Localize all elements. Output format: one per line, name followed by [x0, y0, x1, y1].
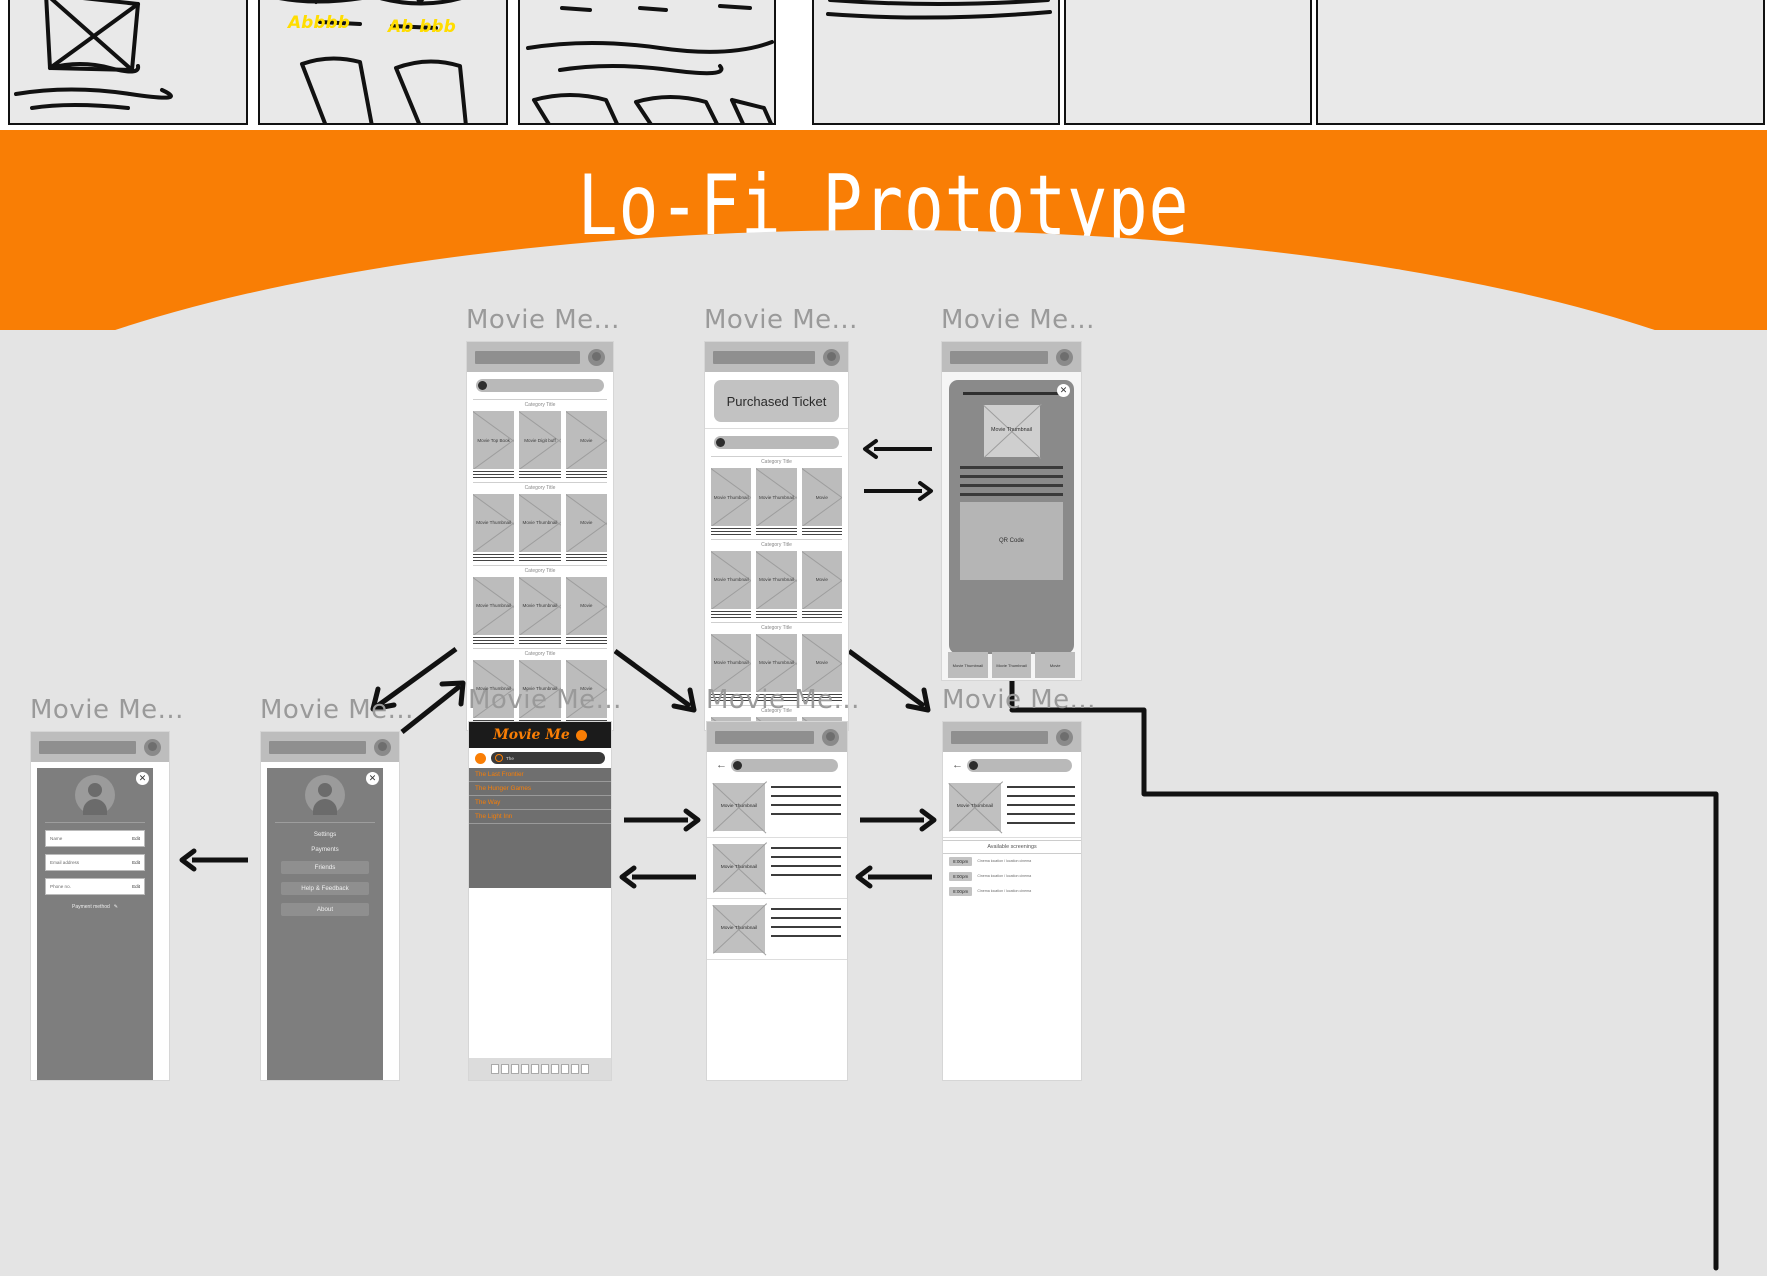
- movie-thumbnail: Movie Thumbnail: [519, 494, 560, 552]
- search-input[interactable]: The: [491, 752, 605, 764]
- gear-icon[interactable]: [475, 753, 486, 764]
- close-icon[interactable]: ✕: [1057, 384, 1070, 397]
- payment-method-label: Payment method: [72, 904, 110, 910]
- app-logo: Movie Me: [469, 722, 611, 748]
- movie-card[interactable]: Movie: [566, 577, 607, 646]
- settings-menu-screen[interactable]: Movie Me... ✕ Settings Payments Friends …: [260, 695, 400, 1081]
- modal-title-bar: [963, 392, 1060, 395]
- app-logo-text: Movie Me: [493, 727, 569, 743]
- logo-bar: [475, 351, 580, 364]
- search-result-item[interactable]: The Way: [469, 796, 611, 810]
- search-input[interactable]: [476, 379, 604, 392]
- category-row: Movie Thumbnail Movie Thumbnail Movie: [705, 468, 848, 537]
- sketch-panel-2: AbbbbAb bbb: [258, 0, 508, 125]
- caption-lines: [711, 528, 751, 535]
- movie-thumbnail: Movie Thumbnail: [713, 783, 765, 831]
- menu-item-help-feedback[interactable]: Help & Feedback: [281, 882, 369, 895]
- category-row: Movie Thumbnail Movie Thumbnail Movie: [705, 551, 848, 620]
- tickets-screen-title: Movie Me...: [704, 305, 849, 335]
- back-arrow-icon[interactable]: ←: [716, 760, 727, 771]
- category-label: Category Title: [473, 565, 607, 574]
- search-query: The: [506, 756, 514, 761]
- search-result-item[interactable]: The Last Frontier: [469, 768, 611, 782]
- search-bar-row[interactable]: The: [469, 748, 611, 768]
- caption-lines: [566, 637, 607, 644]
- caption-lines: [566, 471, 607, 478]
- movie-card[interactable]: Movie Thumbnail: [756, 551, 796, 620]
- movie-thumbnail[interactable]: Movie: [1035, 652, 1075, 678]
- logo-badge-icon: [576, 730, 587, 741]
- avatar[interactable]: [1056, 729, 1073, 746]
- settings-topbar: [261, 732, 399, 762]
- movie-thumbnail: Movie Thumbnail: [711, 551, 751, 609]
- caption-lines: [473, 554, 514, 561]
- ticket-detail-lines: [960, 466, 1063, 496]
- results-empty-area: [469, 824, 611, 888]
- caption-lines: [756, 611, 796, 618]
- phone-field[interactable]: Phone no. Edit: [45, 878, 145, 895]
- movie-card[interactable]: Movie Thumbnail: [711, 551, 751, 620]
- field-action[interactable]: Edit: [132, 860, 140, 865]
- movie-thumbnail: Movie Thumbnail: [711, 468, 751, 526]
- purchased-ticket-screen[interactable]: Movie Me... Purchased Ticket Category Ti…: [704, 305, 849, 731]
- account-edit-screen[interactable]: Movie Me... ✕ Name Edit Email address Ed…: [30, 695, 170, 1081]
- movie-card[interactable]: Movie Top Book: [473, 411, 514, 480]
- tickets-screen-body: Purchased Ticket Category Title Movie Th…: [704, 341, 849, 731]
- movie-card[interactable]: Movie Thumbnail: [711, 468, 751, 537]
- category-label: Category Title: [711, 622, 842, 631]
- search-result-item[interactable]: The Light Inn: [469, 810, 611, 824]
- search-icon: [495, 754, 503, 762]
- category-row: Movie Thumbnail Movie Thumbnail Movie: [467, 577, 613, 646]
- movie-card[interactable]: Movie: [802, 551, 842, 620]
- category-label: Category Title: [711, 456, 842, 465]
- settings-screen-title: Movie Me...: [260, 695, 400, 725]
- tickets-search-row[interactable]: [705, 428, 848, 454]
- screening-time[interactable]: 8:00pm: [949, 887, 972, 896]
- qr-topbar: [942, 342, 1081, 372]
- menu-item-friends[interactable]: Friends: [281, 861, 369, 874]
- movie-thumbnail: Movie: [802, 634, 842, 692]
- list-screen-body: ← Movie Thumbnail Movie Thumbnail Movie …: [706, 721, 848, 1081]
- search-input[interactable]: [714, 436, 839, 449]
- screening-time[interactable]: 8:00pm: [949, 872, 972, 881]
- avatar[interactable]: [588, 349, 605, 366]
- arrow-return-path: [1000, 696, 1720, 1276]
- field-label: Name: [50, 836, 62, 841]
- caption-lines: [519, 554, 560, 561]
- list-screen-title: Movie Me...: [706, 685, 848, 715]
- caption-lines: [566, 554, 607, 561]
- movie-thumbnail: Movie: [802, 468, 842, 526]
- svg-text:Ab bbb: Ab bbb: [386, 17, 456, 37]
- movie-detail-lines: [1007, 783, 1075, 831]
- list-topbar: [707, 722, 847, 752]
- payment-method-row[interactable]: Payment method ✎: [45, 904, 145, 910]
- movie-thumbnail[interactable]: Movie Thumbnail: [992, 652, 1032, 678]
- caption-lines: [711, 611, 751, 618]
- arrow-tickets-to-qr: [862, 480, 934, 502]
- screenings-screen-title: Movie Me...: [942, 685, 1082, 715]
- list-item[interactable]: Movie Thumbnail: [707, 899, 847, 960]
- arrow-list-to-screenings: [858, 808, 938, 832]
- caption-lines: [473, 637, 514, 644]
- arrow-browse-to-list: [612, 648, 704, 716]
- movie-thumbnail: Movie Thumbnail: [756, 634, 796, 692]
- sketch-panel-5: [1064, 0, 1312, 125]
- movie-card[interactable]: Movie: [566, 494, 607, 563]
- screening-row[interactable]: 8:00pm Cinema location / location cinema: [943, 869, 1081, 884]
- arrow-settings-to-account: [178, 848, 250, 872]
- sketch-panel-3: AbbbbBuffBalm: [518, 0, 776, 125]
- movie-card[interactable]: Movie Digit buff: [519, 411, 560, 480]
- arrow-list-to-search: [618, 865, 698, 889]
- account-modal: ✕ Name Edit Email address Edit Phone no.…: [37, 768, 153, 1080]
- movie-thumbnail: Movie Thumbnail: [713, 905, 765, 953]
- qr-screen-title: Movie Me...: [941, 305, 1082, 335]
- logo-bar: [950, 351, 1048, 364]
- qr-screen-body: ✕ Movie Thumbnail QR Code Movie Thumbnai…: [941, 341, 1082, 681]
- movie-thumbnail: Movie Digit buff: [519, 411, 560, 469]
- name-field[interactable]: Name Edit: [45, 830, 145, 847]
- close-icon[interactable]: ✕: [136, 772, 149, 785]
- search-result-item[interactable]: The Hunger Games: [469, 782, 611, 796]
- list-item[interactable]: Movie Thumbnail: [707, 838, 847, 899]
- divider: [275, 822, 375, 823]
- category-label: Category Title: [711, 539, 842, 548]
- movie-thumbnail: Movie Thumbnail: [473, 494, 514, 552]
- movie-thumbnail[interactable]: Movie Thumbnail: [948, 652, 988, 678]
- profile-avatar-icon[interactable]: [75, 775, 115, 815]
- purchased-ticket-button[interactable]: Purchased Ticket: [714, 380, 839, 422]
- movie-thumbnail: Movie Thumbnail: [949, 783, 1001, 831]
- search-screen[interactable]: Movie Me... Movie Me The The Last Fronti…: [468, 685, 612, 1081]
- search-screen-body: Movie Me The The Last Frontier The Hunge…: [468, 721, 612, 1081]
- back-arrow-icon[interactable]: ←: [952, 760, 963, 771]
- qr-bottom-row: Movie Thumbnail Movie Thumbnail Movie: [942, 652, 1081, 680]
- screening-location: Cinema location / location cinema: [977, 859, 1075, 864]
- arrow-screenings-to-list: [854, 865, 934, 889]
- profile-avatar-icon[interactable]: [305, 775, 345, 815]
- logo-bar: [713, 351, 815, 364]
- caption-lines: [802, 611, 842, 618]
- tickets-topbar: [705, 342, 848, 372]
- category-row: Movie Thumbnail Movie Thumbnail Movie: [467, 494, 613, 563]
- ticket-modal: ✕ Movie Thumbnail QR Code: [949, 380, 1074, 654]
- category-label: Category Title: [473, 399, 607, 408]
- browse-screen-body: Category Title Movie Top Book Movie Digi…: [466, 341, 614, 731]
- email-field[interactable]: Email address Edit: [45, 854, 145, 871]
- sketch-strip: AbbbbAb bbb AbbbbBuffBalm: [0, 0, 1767, 132]
- list-item-lines: [771, 905, 841, 953]
- menu-item-payments[interactable]: Payments: [281, 846, 369, 853]
- account-screen-body: ✕ Name Edit Email address Edit Phone no.…: [30, 731, 170, 1081]
- list-item[interactable]: Movie Thumbnail: [707, 777, 847, 838]
- caption-lines: [473, 471, 514, 478]
- sketch-panel-6: [1316, 0, 1765, 125]
- logo-bar: [951, 731, 1048, 744]
- movie-thumbnail: Movie: [802, 551, 842, 609]
- close-icon[interactable]: ✕: [366, 772, 379, 785]
- movie-thumbnail: Movie Thumbnail: [984, 405, 1040, 457]
- divider: [45, 822, 145, 823]
- logo-bar: [715, 731, 814, 744]
- movie-card[interactable]: Movie Thumbnail: [519, 494, 560, 563]
- movie-thumbnail: Movie Top Book: [473, 411, 514, 469]
- caption-lines: [802, 528, 842, 535]
- movie-thumbnail: Movie Thumbnail: [713, 844, 765, 892]
- account-screen-title: Movie Me...: [30, 695, 170, 725]
- arrow-search-to-list: [622, 808, 702, 832]
- field-action[interactable]: Edit: [132, 884, 140, 889]
- caption-lines: [756, 528, 796, 535]
- movie-card[interactable]: Movie Thumbnail: [473, 494, 514, 563]
- movie-card[interactable]: Movie Thumbnail: [756, 468, 796, 537]
- list-item-lines: [771, 844, 841, 892]
- screening-row[interactable]: 8:00pm Cinema location / location cinema: [943, 884, 1081, 899]
- browse-screen-title: Movie Me...: [466, 305, 614, 335]
- screenings-topbar: [943, 722, 1081, 752]
- avatar[interactable]: [822, 729, 839, 746]
- movie-thumbnail: Movie Thumbnail: [473, 577, 514, 635]
- logo-bar: [39, 741, 136, 754]
- avatar[interactable]: [144, 739, 161, 756]
- movie-card[interactable]: Movie: [566, 411, 607, 480]
- screenings-search-row[interactable]: ←: [943, 752, 1081, 777]
- movie-card[interactable]: Movie Thumbnail: [473, 577, 514, 646]
- account-topbar: [31, 732, 169, 762]
- arrow-qr-to-tickets: [862, 438, 934, 460]
- settings-modal: ✕ Settings Payments Friends Help & Feedb…: [267, 768, 383, 1080]
- qr-code: QR Code: [960, 502, 1063, 580]
- screening-location: Cinema location / location cinema: [977, 874, 1075, 879]
- menu-item-about[interactable]: About: [281, 903, 369, 916]
- browse-search-row[interactable]: [467, 372, 613, 397]
- category-label: Category Title: [473, 482, 607, 491]
- qr-ticket-modal-screen[interactable]: Movie Me... ✕ Movie Thumbnail QR Code Mo…: [941, 305, 1082, 681]
- screenings-screen[interactable]: Movie Me... ← Movie Thumbnail Available …: [942, 685, 1082, 1081]
- screening-location: Cinema location / location cinema: [977, 889, 1075, 894]
- svg-text:Abbbb: Abbbb: [286, 13, 350, 33]
- search-input[interactable]: [731, 759, 838, 772]
- logo-bar: [269, 741, 366, 754]
- screening-row[interactable]: 8:00pm Cinema location / location cinema: [943, 854, 1081, 869]
- movie-card[interactable]: Movie Thumbnail: [519, 577, 560, 646]
- category-label: Category Title: [473, 648, 607, 657]
- category-row: Movie Top Book Movie Digit buff Movie: [467, 411, 613, 480]
- caption-lines: [519, 471, 560, 478]
- browse-screen[interactable]: Movie Me... Category Title Movie Top Boo…: [466, 305, 614, 731]
- avatar[interactable]: [1056, 349, 1073, 366]
- list-search-row[interactable]: ←: [707, 752, 847, 777]
- avatar[interactable]: [823, 349, 840, 366]
- edit-pencil-icon[interactable]: ✎: [114, 904, 118, 910]
- movie-thumbnail: Movie: [566, 411, 607, 469]
- movie-thumbnail: Movie Thumbnail: [519, 577, 560, 635]
- movie-thumbnail: Movie Thumbnail: [756, 468, 796, 526]
- screening-time[interactable]: 8:00pm: [949, 857, 972, 866]
- movie-thumbnail: Movie: [566, 577, 607, 635]
- list-item-lines: [771, 783, 841, 831]
- movie-thumbnail: Movie Thumbnail: [711, 634, 751, 692]
- prototype-canvas: Movie Me... Category Title Movie Top Boo…: [0, 300, 1767, 1080]
- sketch-panel-1: [8, 0, 248, 125]
- field-action[interactable]: Edit: [132, 836, 140, 841]
- avatar[interactable]: [374, 739, 391, 756]
- movie-detail-row: Movie Thumbnail: [943, 777, 1081, 838]
- search-input[interactable]: [967, 759, 1072, 772]
- movie-list-screen[interactable]: Movie Me... ← Movie Thumbnail Movie Thum…: [706, 685, 848, 1081]
- field-label: Email address: [50, 860, 79, 865]
- movie-card[interactable]: Movie: [802, 468, 842, 537]
- available-screenings-label: Available screenings: [943, 840, 1081, 854]
- on-screen-keyboard[interactable]: [469, 1058, 611, 1080]
- menu-item-settings[interactable]: Settings: [281, 831, 369, 838]
- settings-screen-body: ✕ Settings Payments Friends Help & Feedb…: [260, 731, 400, 1081]
- browse-topbar: [467, 342, 613, 372]
- movie-thumbnail: Movie Thumbnail: [756, 551, 796, 609]
- movie-thumbnail: Movie: [566, 494, 607, 552]
- sketch-panel-4: [812, 0, 1060, 125]
- screenings-screen-body: ← Movie Thumbnail Available screenings 8…: [942, 721, 1082, 1081]
- field-label: Phone no.: [50, 884, 71, 889]
- caption-lines: [519, 637, 560, 644]
